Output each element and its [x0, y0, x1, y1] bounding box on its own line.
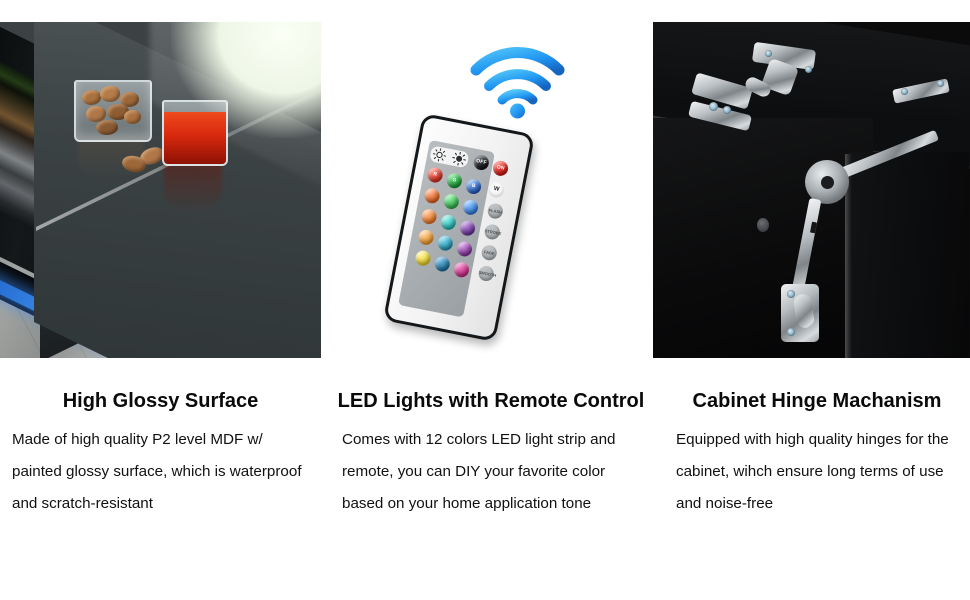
feature-column-led-lights-remote-control: LED Lights with Remote Control Comes wit… — [330, 378, 652, 520]
feature-body-cabinet-hinge-machanism: Equipped with high quality hinges for th… — [664, 424, 970, 520]
feature-heading-led-lights-remote-control: LED Lights with Remote Control — [330, 378, 652, 424]
power-on-label: ON — [493, 163, 509, 172]
mode-button-strobe[interactable]: STROBE — [483, 223, 501, 241]
remote-control-scene: OFF ON R G B W — [330, 22, 650, 358]
stay-screw — [787, 328, 795, 336]
mode-button-fade[interactable]: FADE — [480, 244, 498, 262]
hinge-screw — [723, 106, 731, 114]
mode-label-fade: FADE — [480, 244, 498, 262]
power-on-button[interactable]: ON — [492, 160, 510, 178]
stay-screw — [787, 290, 795, 298]
feature-body-led-lights-remote-control: Comes with 12 colors LED light strip and… — [330, 424, 652, 520]
feature-board: OFF ON R G B W — [0, 0, 970, 600]
power-off-label: OFF — [473, 158, 489, 167]
feature-column-high-glossy-surface: High Glossy Surface Made of high quality… — [0, 378, 321, 520]
stay-screw — [937, 80, 944, 87]
drink-glass — [162, 100, 228, 166]
feature-image-high-glossy-surface — [0, 22, 321, 358]
mode-label-strobe: STROBE — [483, 223, 501, 241]
mode-button-smooth[interactable]: SMOOTH — [477, 265, 495, 283]
feature-column-cabinet-hinge-machanism: Cabinet Hinge Machanism Equipped with hi… — [664, 378, 970, 520]
mode-label-smooth: SMOOTH — [477, 265, 495, 283]
hinge-screw — [709, 102, 718, 111]
color-label-b: B — [466, 182, 482, 191]
hinge-screw — [765, 50, 772, 57]
feature-heading-high-glossy-surface: High Glossy Surface — [0, 378, 321, 424]
cabinet-door-panel — [849, 152, 969, 358]
feature-image-cabinet-hinge-machanism — [653, 22, 970, 358]
brightness-up-icon — [450, 149, 469, 168]
red-drink-liquid — [164, 112, 226, 164]
almond — [124, 110, 141, 124]
mode-button-flash[interactable]: FLASH — [486, 202, 504, 220]
almond — [100, 86, 120, 102]
cabinet-back-panel — [653, 118, 873, 358]
stay-screw — [901, 88, 908, 95]
led-remote-control[interactable]: OFF ON R G B W — [383, 113, 535, 342]
feature-image-led-lights-remote-control: OFF ON R G B W — [330, 22, 650, 358]
color-label-g: G — [446, 176, 462, 185]
stay-pivot-center — [821, 176, 834, 189]
cabinet-hinge-scene — [653, 22, 970, 358]
feature-heading-cabinet-hinge-machanism: Cabinet Hinge Machanism — [664, 378, 970, 424]
wifi-icon — [470, 44, 565, 119]
color-label-r: R — [427, 170, 443, 179]
brightness-down-icon — [430, 146, 449, 165]
feature-body-high-glossy-surface: Made of high quality P2 level MDF w/ pai… — [0, 424, 321, 520]
mode-label-flash: FLASH — [486, 202, 504, 220]
feature-text-row: High Glossy Surface Made of high quality… — [0, 378, 970, 578]
almond — [96, 120, 118, 135]
hinge-screw — [805, 66, 812, 73]
glossy-surface-scene — [0, 22, 321, 358]
color-label-w: W — [488, 181, 506, 199]
image-row: OFF ON R G B W — [0, 22, 970, 358]
almond — [82, 90, 101, 105]
cabinet-screw-hole — [757, 218, 769, 232]
drink-glass-reflection — [164, 164, 222, 214]
almond-glass — [74, 80, 152, 142]
color-button-white[interactable]: W — [488, 181, 506, 199]
